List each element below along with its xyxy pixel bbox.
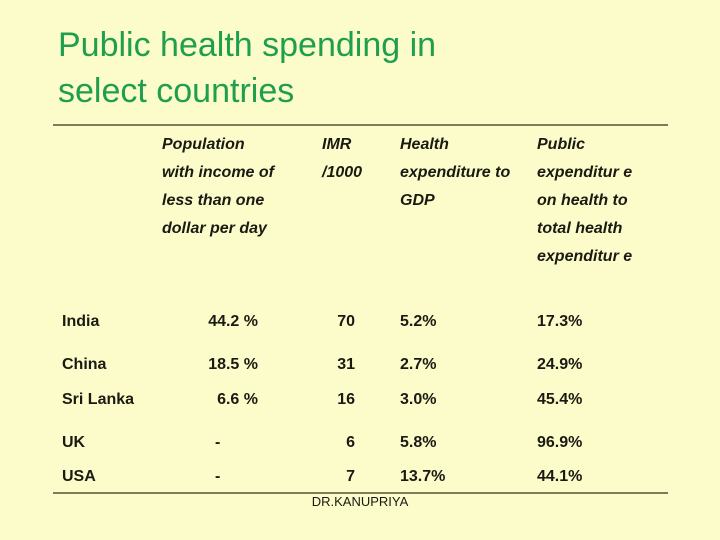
table-row: 44.1% [537, 468, 657, 486]
table-row: 13.7% [400, 468, 520, 486]
table-row: USA [62, 468, 182, 486]
table-row: 5.2% [400, 313, 520, 331]
table-row: 17.3% [537, 313, 657, 331]
table-row: 70 [290, 313, 355, 331]
table-row: 6 [290, 434, 355, 452]
slide-footer-author: DR.KANUPRIYA [0, 494, 720, 509]
table-row: - [215, 468, 255, 486]
table-row: 24.9% [537, 356, 657, 374]
table-header-population-below-one-dollar: Population with income of less than one … [162, 131, 280, 243]
table-row: 96.9% [537, 434, 657, 452]
data-table: Population with income of less than one … [0, 0, 720, 540]
table-header-health-expenditure-to-gdp: Health expenditure to GDP [400, 131, 525, 215]
table-row: 6.6 % [150, 391, 258, 409]
table-row: 45.4% [537, 391, 657, 409]
table-row: 3.0% [400, 391, 520, 409]
table-row: 5.8% [400, 434, 520, 452]
table-row: 2.7% [400, 356, 520, 374]
table-row: - [215, 434, 255, 452]
table-row: 18.5 % [150, 356, 258, 374]
table-row: 31 [290, 356, 355, 374]
table-row: 44.2 % [150, 313, 258, 331]
slide-canvas: Public health spending in select countri… [0, 0, 720, 540]
table-row: 7 [290, 468, 355, 486]
table-row: 16 [290, 391, 355, 409]
table-header-public-to-total-health-expenditure: Public expenditur e on health to total h… [537, 131, 655, 271]
table-header-imr: IMR /1000 [322, 131, 382, 187]
table-row: UK [62, 434, 182, 452]
